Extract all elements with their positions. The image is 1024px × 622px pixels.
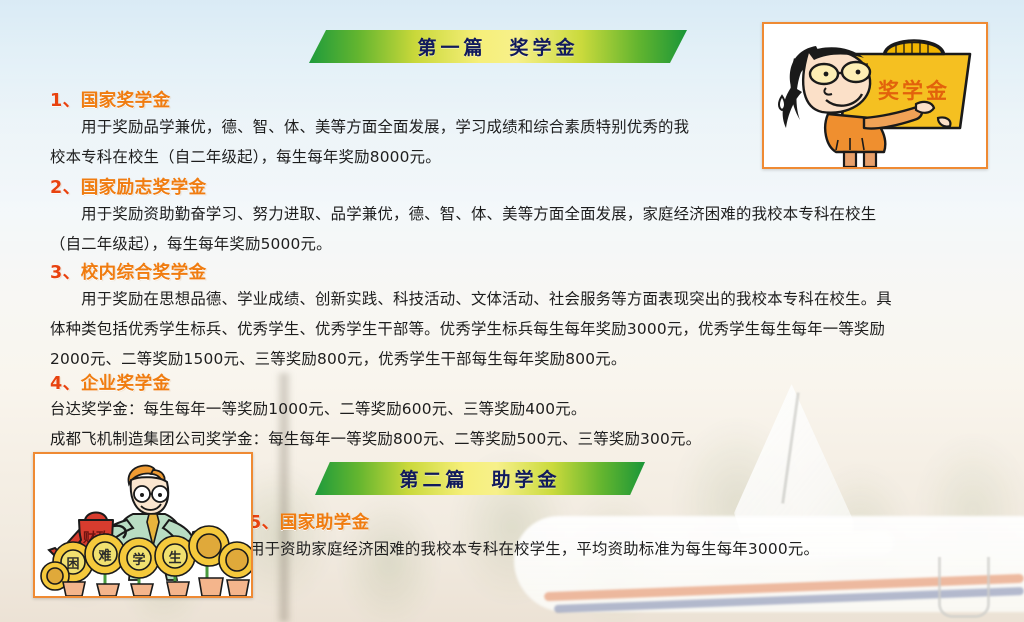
svg-text:难: 难 xyxy=(97,548,111,564)
scholarship-girl-illustration: 奖学金 xyxy=(762,22,988,169)
section-heading-4: 4、企业奖学金 xyxy=(50,370,171,395)
section-number-3: 3、 xyxy=(50,263,81,283)
section-4-line-2: 成都飞机制造集团公司奖学金：每生每年一等奖励800元、二等奖励500元、三等奖励… xyxy=(50,424,701,454)
section-2-line-1: 用于奖励资助勤奋学习、努力进取、品学兼优，德、智、体、美等方面全面发展，家庭经济… xyxy=(50,199,876,229)
poster-canvas: 第一篇 奖学金 第二篇 助学金 1、国家奖学金 用于奖励品学兼优，德、智、体、美… xyxy=(0,0,1024,622)
section-title-3: 校内综合奖学金 xyxy=(81,263,207,283)
section-title-4: 企业奖学金 xyxy=(81,374,171,394)
section-heading-5: 5、国家助学金 xyxy=(249,509,370,534)
section-4-line-1: 台达奖学金：每生每年一等奖励1000元、二等奖励600元、三等奖励400元。 xyxy=(50,394,586,424)
section-title-2: 国家励志奖学金 xyxy=(81,178,207,198)
section-number-1: 1、 xyxy=(50,91,81,111)
section-title-5: 国家助学金 xyxy=(280,513,370,533)
svg-text:困: 困 xyxy=(66,557,79,572)
grant-sunflowers-drawing: 财政 困 难 学 xyxy=(35,454,251,596)
section-number-5: 5、 xyxy=(249,513,280,533)
section-2-line-2: （自二年级起），每生每年奖励5000元。 xyxy=(50,229,332,259)
section-title-1: 国家奖学金 xyxy=(81,91,171,111)
section-heading-3: 3、校内综合奖学金 xyxy=(50,259,207,284)
scholarship-girl-drawing: 奖学金 xyxy=(764,24,986,167)
section-heading-2: 2、国家励志奖学金 xyxy=(50,174,207,199)
section-1-line-2: 校本专科在校生（自二年级起），每生每年奖励8000元。 xyxy=(50,142,441,172)
section-number-4: 4、 xyxy=(50,374,81,394)
svg-text:学: 学 xyxy=(132,552,145,568)
section-3-line-1: 用于奖励在思想品德、学业成绩、创新实践、科技活动、文体活动、社会服务等方面表现突… xyxy=(50,284,892,314)
svg-text:奖学金: 奖学金 xyxy=(878,79,950,103)
grant-sunflowers-illustration: 财政 困 难 学 xyxy=(33,452,253,598)
section-heading-1: 1、国家奖学金 xyxy=(50,87,171,112)
svg-text:生: 生 xyxy=(168,550,181,566)
section-number-2: 2、 xyxy=(50,178,81,198)
section-5-line-1: 用于资助家庭经济困难的我校本专科在校学生，平均资助标准为每生每年3000元。 xyxy=(249,534,819,564)
section-1-line-1: 用于奖励品学兼优，德、智、体、美等方面全面发展，学习成绩和综合素质特别优秀的我 xyxy=(50,112,689,142)
section-3-line-2: 体种类包括优秀学生标兵、优秀学生、优秀学生干部等。优秀学生标兵每生每年奖励300… xyxy=(50,314,885,344)
